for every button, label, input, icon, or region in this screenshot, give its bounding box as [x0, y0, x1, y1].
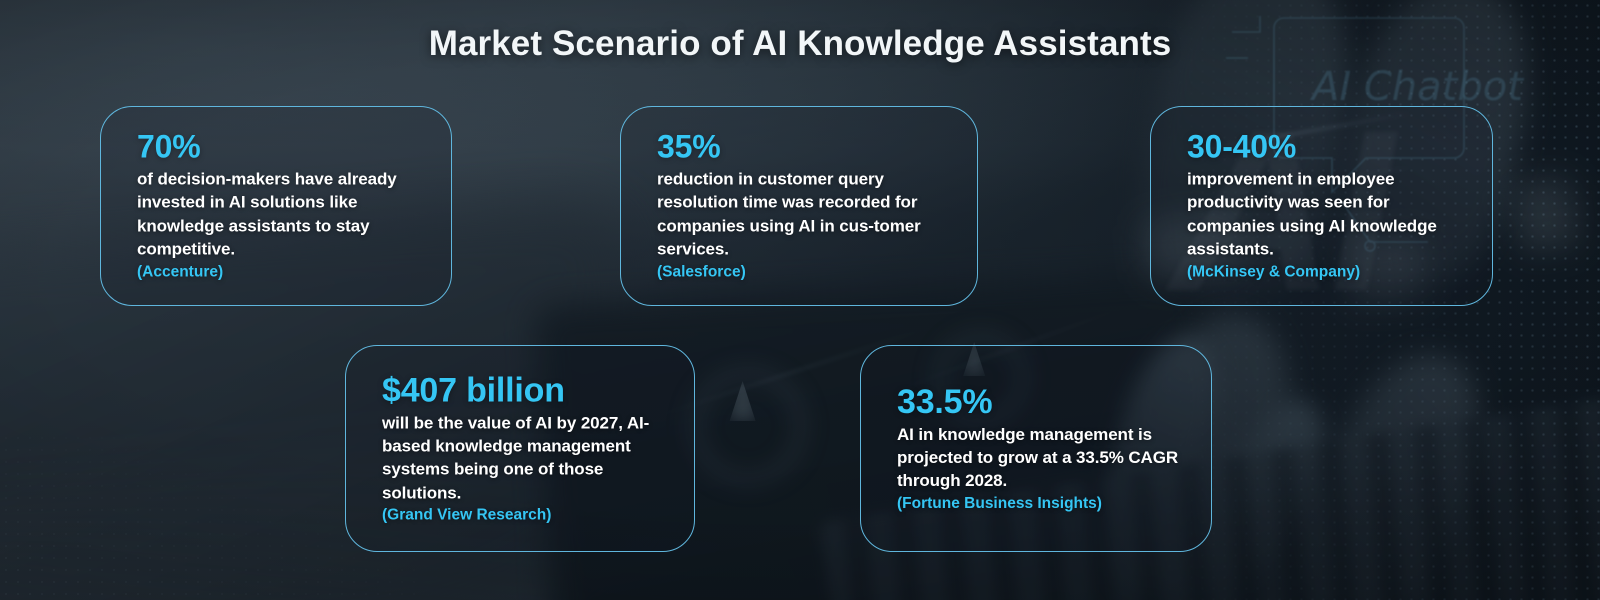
stat-source: (Salesforce) [657, 262, 955, 282]
infographic-content: Market Scenario of AI Knowledge Assistan… [0, 0, 1600, 600]
page-title: Market Scenario of AI Knowledge Assistan… [0, 24, 1600, 64]
infographic-stage: AI AI Chatbot Market Scenario of AI Know… [0, 0, 1600, 600]
stat-source: (McKinsey & Company) [1187, 262, 1470, 282]
stat-card-content: 30-40% improvement in employee productiv… [1187, 130, 1470, 283]
stat-card-1[interactable]: 70% of decision-makers have already inve… [100, 106, 452, 306]
stat-value: 35% [657, 130, 955, 166]
stat-description: reduction in customer query resolution t… [657, 167, 955, 261]
stat-card-content: $407 billion will be the value of AI by … [382, 371, 672, 526]
stat-card-content: 35% reduction in customer query resoluti… [657, 130, 955, 283]
stat-card-2[interactable]: 35% reduction in customer query resoluti… [620, 106, 978, 306]
stat-value: 30-40% [1187, 130, 1470, 166]
stat-description: of decision-makers have already invested… [137, 167, 429, 261]
stat-source: (Accenture) [137, 262, 429, 282]
stat-card-3[interactable]: 30-40% improvement in employee productiv… [1150, 106, 1493, 306]
stat-value: $407 billion [382, 371, 672, 409]
stat-source: (Fortune Business Insights) [897, 494, 1189, 514]
stat-card-5[interactable]: 33.5% AI in knowledge management is proj… [860, 345, 1212, 552]
stat-description: improvement in employee productivity was… [1187, 167, 1470, 261]
stat-card-content: 33.5% AI in knowledge management is proj… [897, 383, 1189, 515]
stat-value: 33.5% [897, 383, 1189, 421]
stat-description: will be the value of AI by 2027, AI-base… [382, 411, 672, 505]
stat-card-4[interactable]: $407 billion will be the value of AI by … [345, 345, 695, 552]
stat-value: 70% [137, 130, 429, 166]
stat-source: (Grand View Research) [382, 506, 672, 526]
stat-description: AI in knowledge management is projected … [897, 423, 1189, 493]
stat-card-content: 70% of decision-makers have already inve… [137, 130, 429, 283]
